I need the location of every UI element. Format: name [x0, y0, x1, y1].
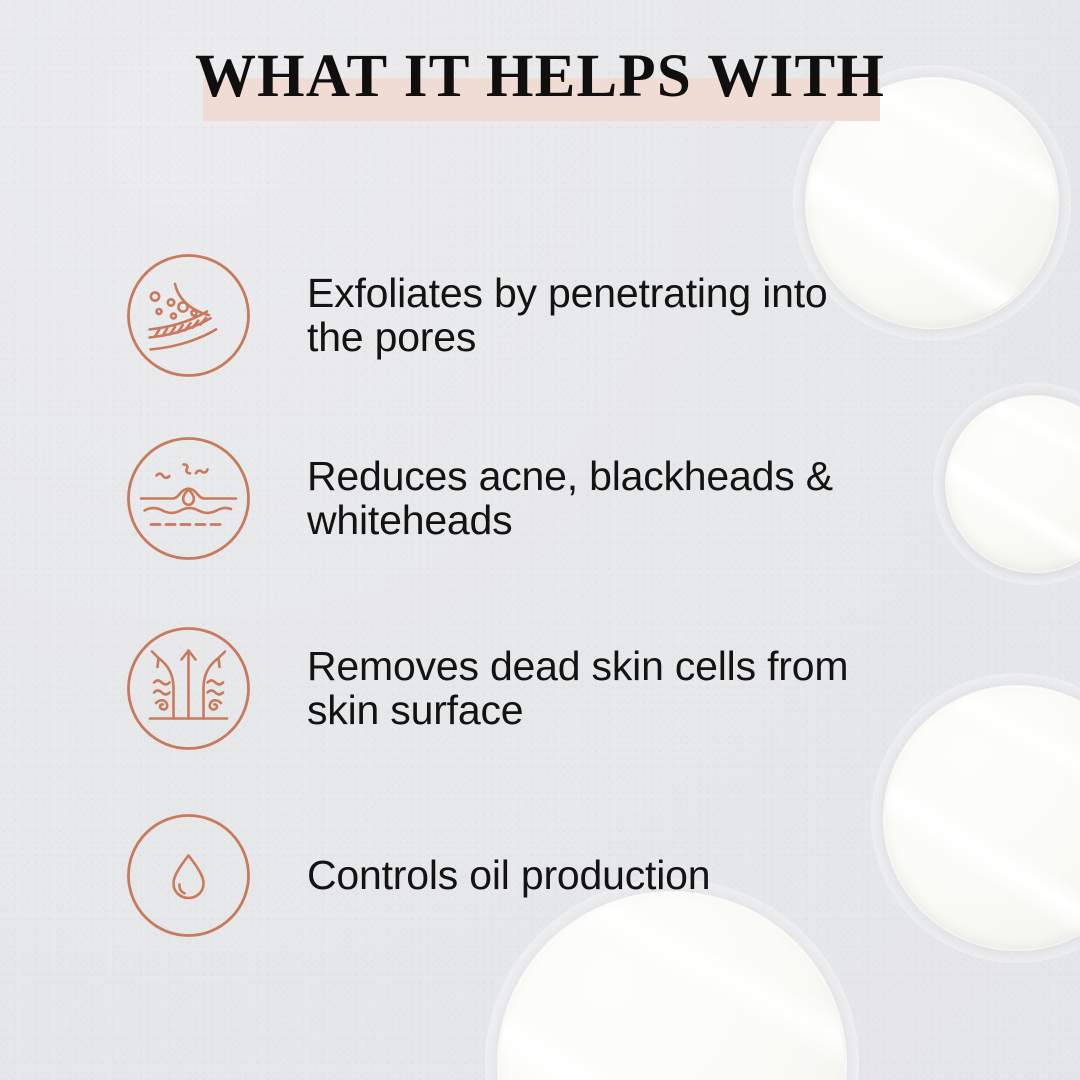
benefit-line-1: Reduces acne, blackheads &: [307, 455, 916, 498]
benefit-line-2: skin surface: [307, 689, 916, 732]
benefit-text-controls-oil: Controls oil production: [307, 854, 916, 897]
oil-droplet-icon: [126, 813, 251, 938]
benefit-line-2: the pores: [307, 316, 916, 359]
acne-blackhead-skin-icon: [126, 436, 251, 561]
benefit-item-exfoliates: Exfoliates by penetrating into the pores: [126, 253, 916, 378]
exfoliation-pores-icon: [126, 253, 251, 378]
benefit-text-exfoliates: Exfoliates by penetrating into the pores: [307, 272, 916, 359]
benefit-text-removes-dead-skin: Removes dead skin cells from skin surfac…: [307, 645, 916, 732]
benefit-line-1: Controls oil production: [307, 854, 916, 897]
dead-skin-cell-removal-icon: [126, 626, 251, 751]
benefit-text-reduces-acne: Reduces acne, blackheads & whiteheads: [307, 455, 916, 542]
benefit-item-reduces-acne: Reduces acne, blackheads & whiteheads: [126, 436, 916, 561]
benefit-line-1: Removes dead skin cells from: [307, 645, 916, 688]
benefit-line-1: Exfoliates by penetrating into: [307, 272, 916, 315]
benefit-list: Exfoliates by penetrating into the pores: [0, 0, 1080, 1080]
benefit-item-controls-oil: Controls oil production: [126, 813, 916, 938]
benefit-line-2: whiteheads: [307, 499, 916, 542]
benefit-item-removes-dead-skin: Removes dead skin cells from skin surfac…: [126, 626, 916, 751]
